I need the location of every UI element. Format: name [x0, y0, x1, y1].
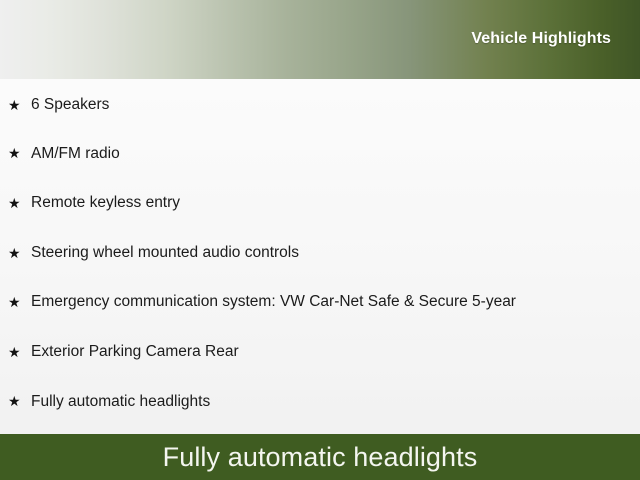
- star-bullet-icon: ★: [8, 146, 31, 160]
- star-bullet-icon: ★: [8, 295, 31, 309]
- list-item-label: AM/FM radio: [31, 144, 640, 163]
- list-item-label: Exterior Parking Camera Rear: [31, 342, 640, 361]
- list-item-label: Fully automatic headlights: [31, 392, 640, 411]
- star-bullet-icon: ★: [8, 345, 31, 359]
- vehicle-highlights-panel: Vehicle Highlights ★ 6 Speakers ★ AM/FM …: [0, 0, 640, 480]
- star-bullet-icon: ★: [8, 394, 31, 408]
- footer-caption: Fully automatic headlights: [163, 444, 478, 471]
- star-bullet-icon: ★: [8, 98, 31, 112]
- list-item-label: 6 Speakers: [31, 95, 640, 114]
- list-item: ★ AM/FM radio: [0, 129, 640, 179]
- list-item-label: Emergency communication system: VW Car-N…: [31, 292, 640, 311]
- panel-footer: Fully automatic headlights: [0, 434, 640, 480]
- list-item: ★ Emergency communication system: VW Car…: [0, 277, 640, 327]
- list-item-label: Steering wheel mounted audio controls: [31, 243, 640, 262]
- star-bullet-icon: ★: [8, 246, 31, 260]
- list-item: ★ Steering wheel mounted audio controls: [0, 228, 640, 278]
- panel-header: Vehicle Highlights: [0, 0, 640, 79]
- star-bullet-icon: ★: [8, 196, 31, 210]
- list-item: ★ 6 Speakers: [0, 79, 640, 129]
- list-item: ★ Remote keyless entry: [0, 178, 640, 228]
- highlights-body: ★ 6 Speakers ★ AM/FM radio ★ Remote keyl…: [0, 79, 640, 434]
- page-title: Vehicle Highlights: [471, 30, 640, 48]
- list-item: ★ Fully automatic headlights: [0, 377, 640, 427]
- vehicle-highlights-list: ★ 6 Speakers ★ AM/FM radio ★ Remote keyl…: [0, 79, 640, 426]
- list-item: ★ Exterior Parking Camera Rear: [0, 327, 640, 377]
- list-item-label: Remote keyless entry: [31, 193, 640, 212]
